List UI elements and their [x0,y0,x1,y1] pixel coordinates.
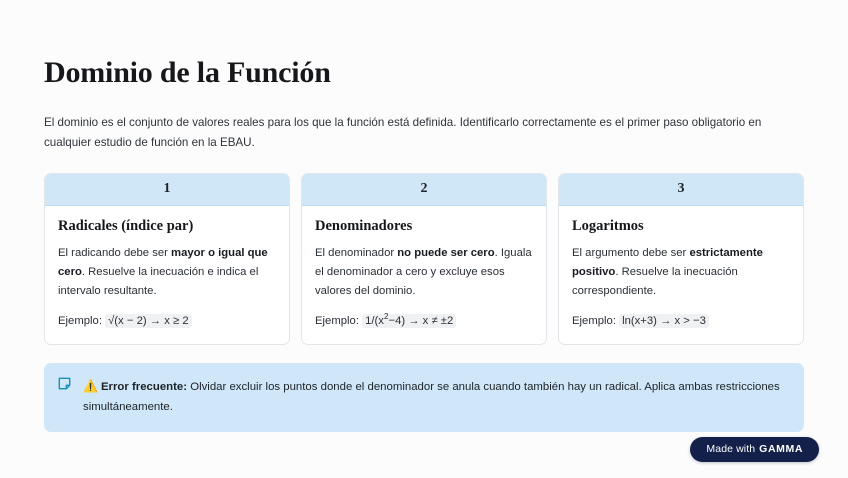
sticky-note-icon [58,377,71,390]
rule-card-3-text: El argumento debe ser estrictamente posi… [572,244,790,300]
rule-card-2-heading: Denominadores [315,218,533,235]
warning-callout-body: Olvidar excluir los puntos donde el deno… [83,381,780,413]
rule-card-2-text-bold: no puede ser cero [397,247,494,259]
rule-card-1-heading: Radicales (índice par) [58,218,276,235]
rule-card-3-body: Logaritmos El argumento debe ser estrict… [559,206,803,344]
rule-card-2-code-prefix: 1/(x [365,315,384,327]
warning-triangle-icon: ⚠️ [83,379,98,393]
rule-card-1-example: Ejemplo: √(x − 2) → x ≥ 2 [58,313,276,331]
warning-callout-label: Error frecuente: [101,381,187,393]
gamma-badge-brand: GAMMA [759,443,803,455]
rule-card-3-example: Ejemplo: ln(x+3) → x > −3 [572,313,790,331]
rule-card-3-heading: Logaritmos [572,218,790,235]
rule-card-2[interactable]: 2 Denominadores El denominador no puede … [301,173,547,345]
rule-card-1[interactable]: 1 Radicales (índice par) El radicando de… [44,173,290,345]
rule-card-3-text-before: El argumento debe ser [572,247,689,259]
rule-card-1-text-before: El radicando debe ser [58,247,171,259]
rule-card-2-text: El denominador no puede ser cero. Iguala… [315,244,533,300]
rule-card-1-text: El radicando debe ser mayor o igual que … [58,244,276,300]
rule-card-2-example-label: Ejemplo: [315,315,362,327]
rule-card-3-number: 3 [559,174,803,206]
rule-card-1-example-code: √(x − 2) → x ≥ 2 [105,314,192,328]
rule-card-2-example: Ejemplo: 1/(x2−4) → x ≠ ±2 [315,313,533,331]
warning-callout-text: ⚠️Error frecuente: Olvidar excluir los p… [83,376,788,418]
rule-card-2-text-before: El denominador [315,247,397,259]
rule-card-1-body: Radicales (índice par) El radicando debe… [45,206,289,344]
intro-paragraph: El dominio es el conjunto de valores rea… [44,113,789,154]
rule-card-3-example-label: Ejemplo: [572,315,619,327]
warning-callout: ⚠️Error frecuente: Olvidar excluir los p… [44,363,804,432]
rule-card-2-body: Denominadores El denominador no puede se… [302,206,546,344]
gamma-badge-prefix: Made with [706,443,755,455]
rule-card-3[interactable]: 3 Logaritmos El argumento debe ser estri… [558,173,804,345]
rule-card-1-number: 1 [45,174,289,206]
rule-card-1-example-label: Ejemplo: [58,315,105,327]
rule-card-2-code-suffix: −4) → x ≠ ±2 [388,315,453,327]
rule-card-1-text-after: . Resuelve la inecuación e indica el int… [58,266,258,297]
rules-card-row: 1 Radicales (índice par) El radicando de… [44,173,804,345]
rule-card-2-number: 2 [302,174,546,206]
rule-card-3-example-code: ln(x+3) → x > −3 [619,314,709,328]
page-title: Dominio de la Función [44,56,804,91]
made-with-gamma-badge[interactable]: Made with GAMMA [690,437,819,462]
rule-card-2-example-code: 1/(x2−4) → x ≠ ±2 [362,314,456,328]
slide-root: Dominio de la Función El dominio es el c… [0,0,848,478]
